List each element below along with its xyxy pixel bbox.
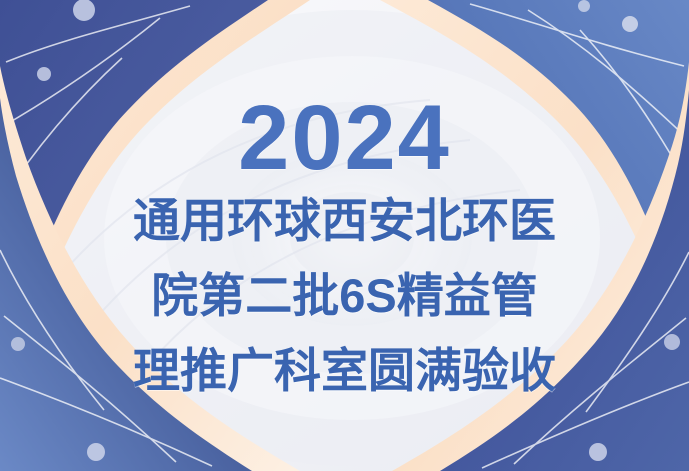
poster-text-block: 2024 通用环球西安北环医 院第二批6S精益管 理推广科室圆满验收 [0, 0, 689, 471]
headline-line-1: 通用环球西安北环医 [133, 197, 556, 244]
poster-year: 2024 [238, 92, 451, 184]
headline-line-2: 院第二批6S精益管 [151, 272, 538, 319]
poster-canvas: 2024 通用环球西安北环医 院第二批6S精益管 理推广科室圆满验收 [0, 0, 689, 471]
headline-line-3: 理推广科室圆满验收 [133, 347, 556, 394]
